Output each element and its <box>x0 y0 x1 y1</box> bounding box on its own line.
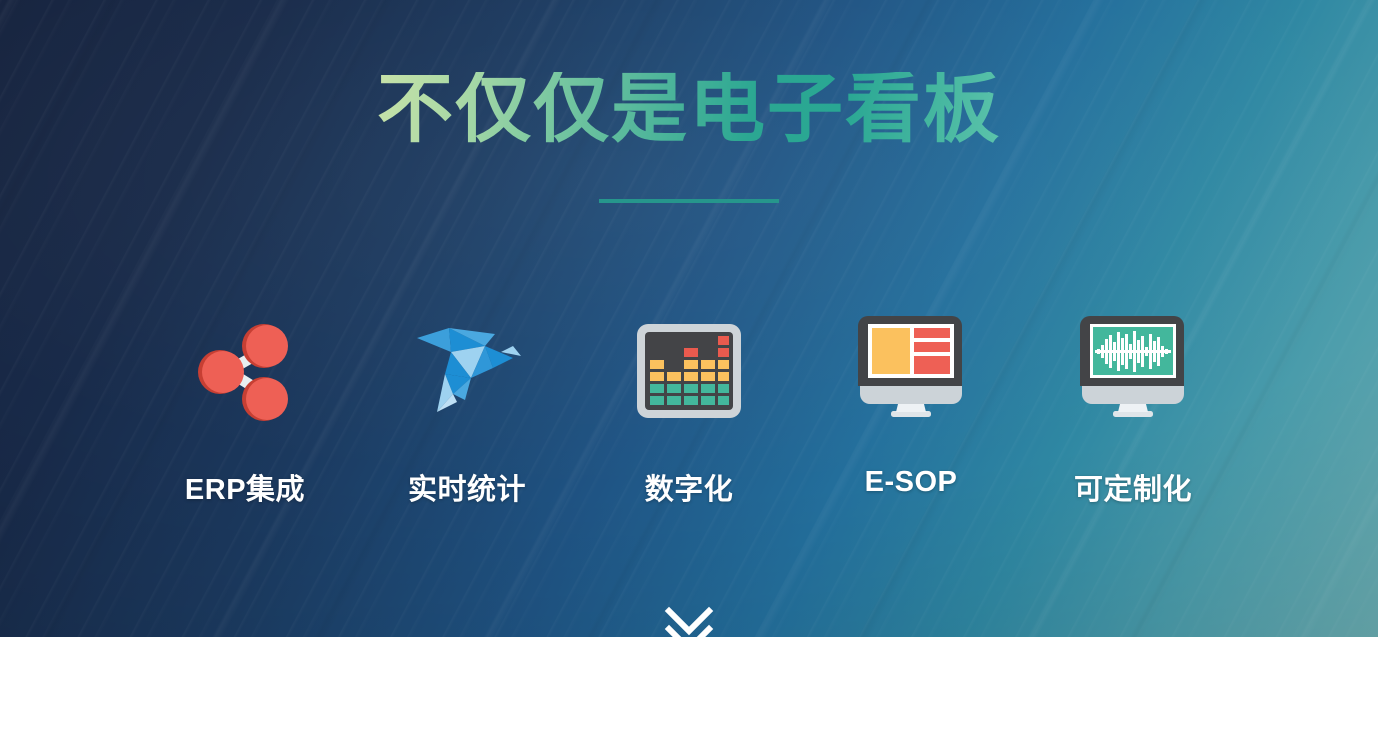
feature-label-customizable: 可定制化 <box>1074 466 1192 508</box>
feature-label-erp-integration: ERP集成 <box>185 466 305 508</box>
feature-label-e-sop: E-SOP <box>865 466 958 499</box>
feature-icon-wrapper <box>636 310 742 432</box>
feature-label-realtime-statistics: 实时统计 <box>408 466 526 508</box>
page-title: 不仅仅是电子看板 <box>377 72 1001 148</box>
monitor-layout-icon <box>858 314 964 428</box>
feature-icon-wrapper <box>858 310 964 432</box>
feature-list: ERP集成 实时统计 <box>0 310 1378 508</box>
feature-item-digitization[interactable]: 数字化 <box>578 310 800 508</box>
title-container: 不仅仅是电子看板 <box>0 72 1378 148</box>
page-bottom-strip <box>0 637 1378 751</box>
feature-item-e-sop[interactable]: E-SOP <box>800 310 1022 499</box>
title-divider <box>599 199 779 203</box>
feature-item-customizable[interactable]: 可定制化 <box>1022 310 1244 508</box>
feature-item-realtime-statistics[interactable]: 实时统计 <box>356 310 578 508</box>
monitor-waveform-icon <box>1080 314 1186 428</box>
hero-section: 不仅仅是电子看板 ERP集成 <box>0 0 1378 637</box>
feature-icon-wrapper <box>1080 310 1186 432</box>
feature-icon-wrapper <box>190 310 300 432</box>
origami-bird-icon <box>409 316 525 426</box>
feature-label-digitization: 数字化 <box>645 466 734 508</box>
share-network-icon <box>190 316 300 426</box>
feature-icon-wrapper <box>409 310 525 432</box>
feature-item-erp-integration[interactable]: ERP集成 <box>134 310 356 508</box>
equalizer-board-icon <box>636 322 742 420</box>
